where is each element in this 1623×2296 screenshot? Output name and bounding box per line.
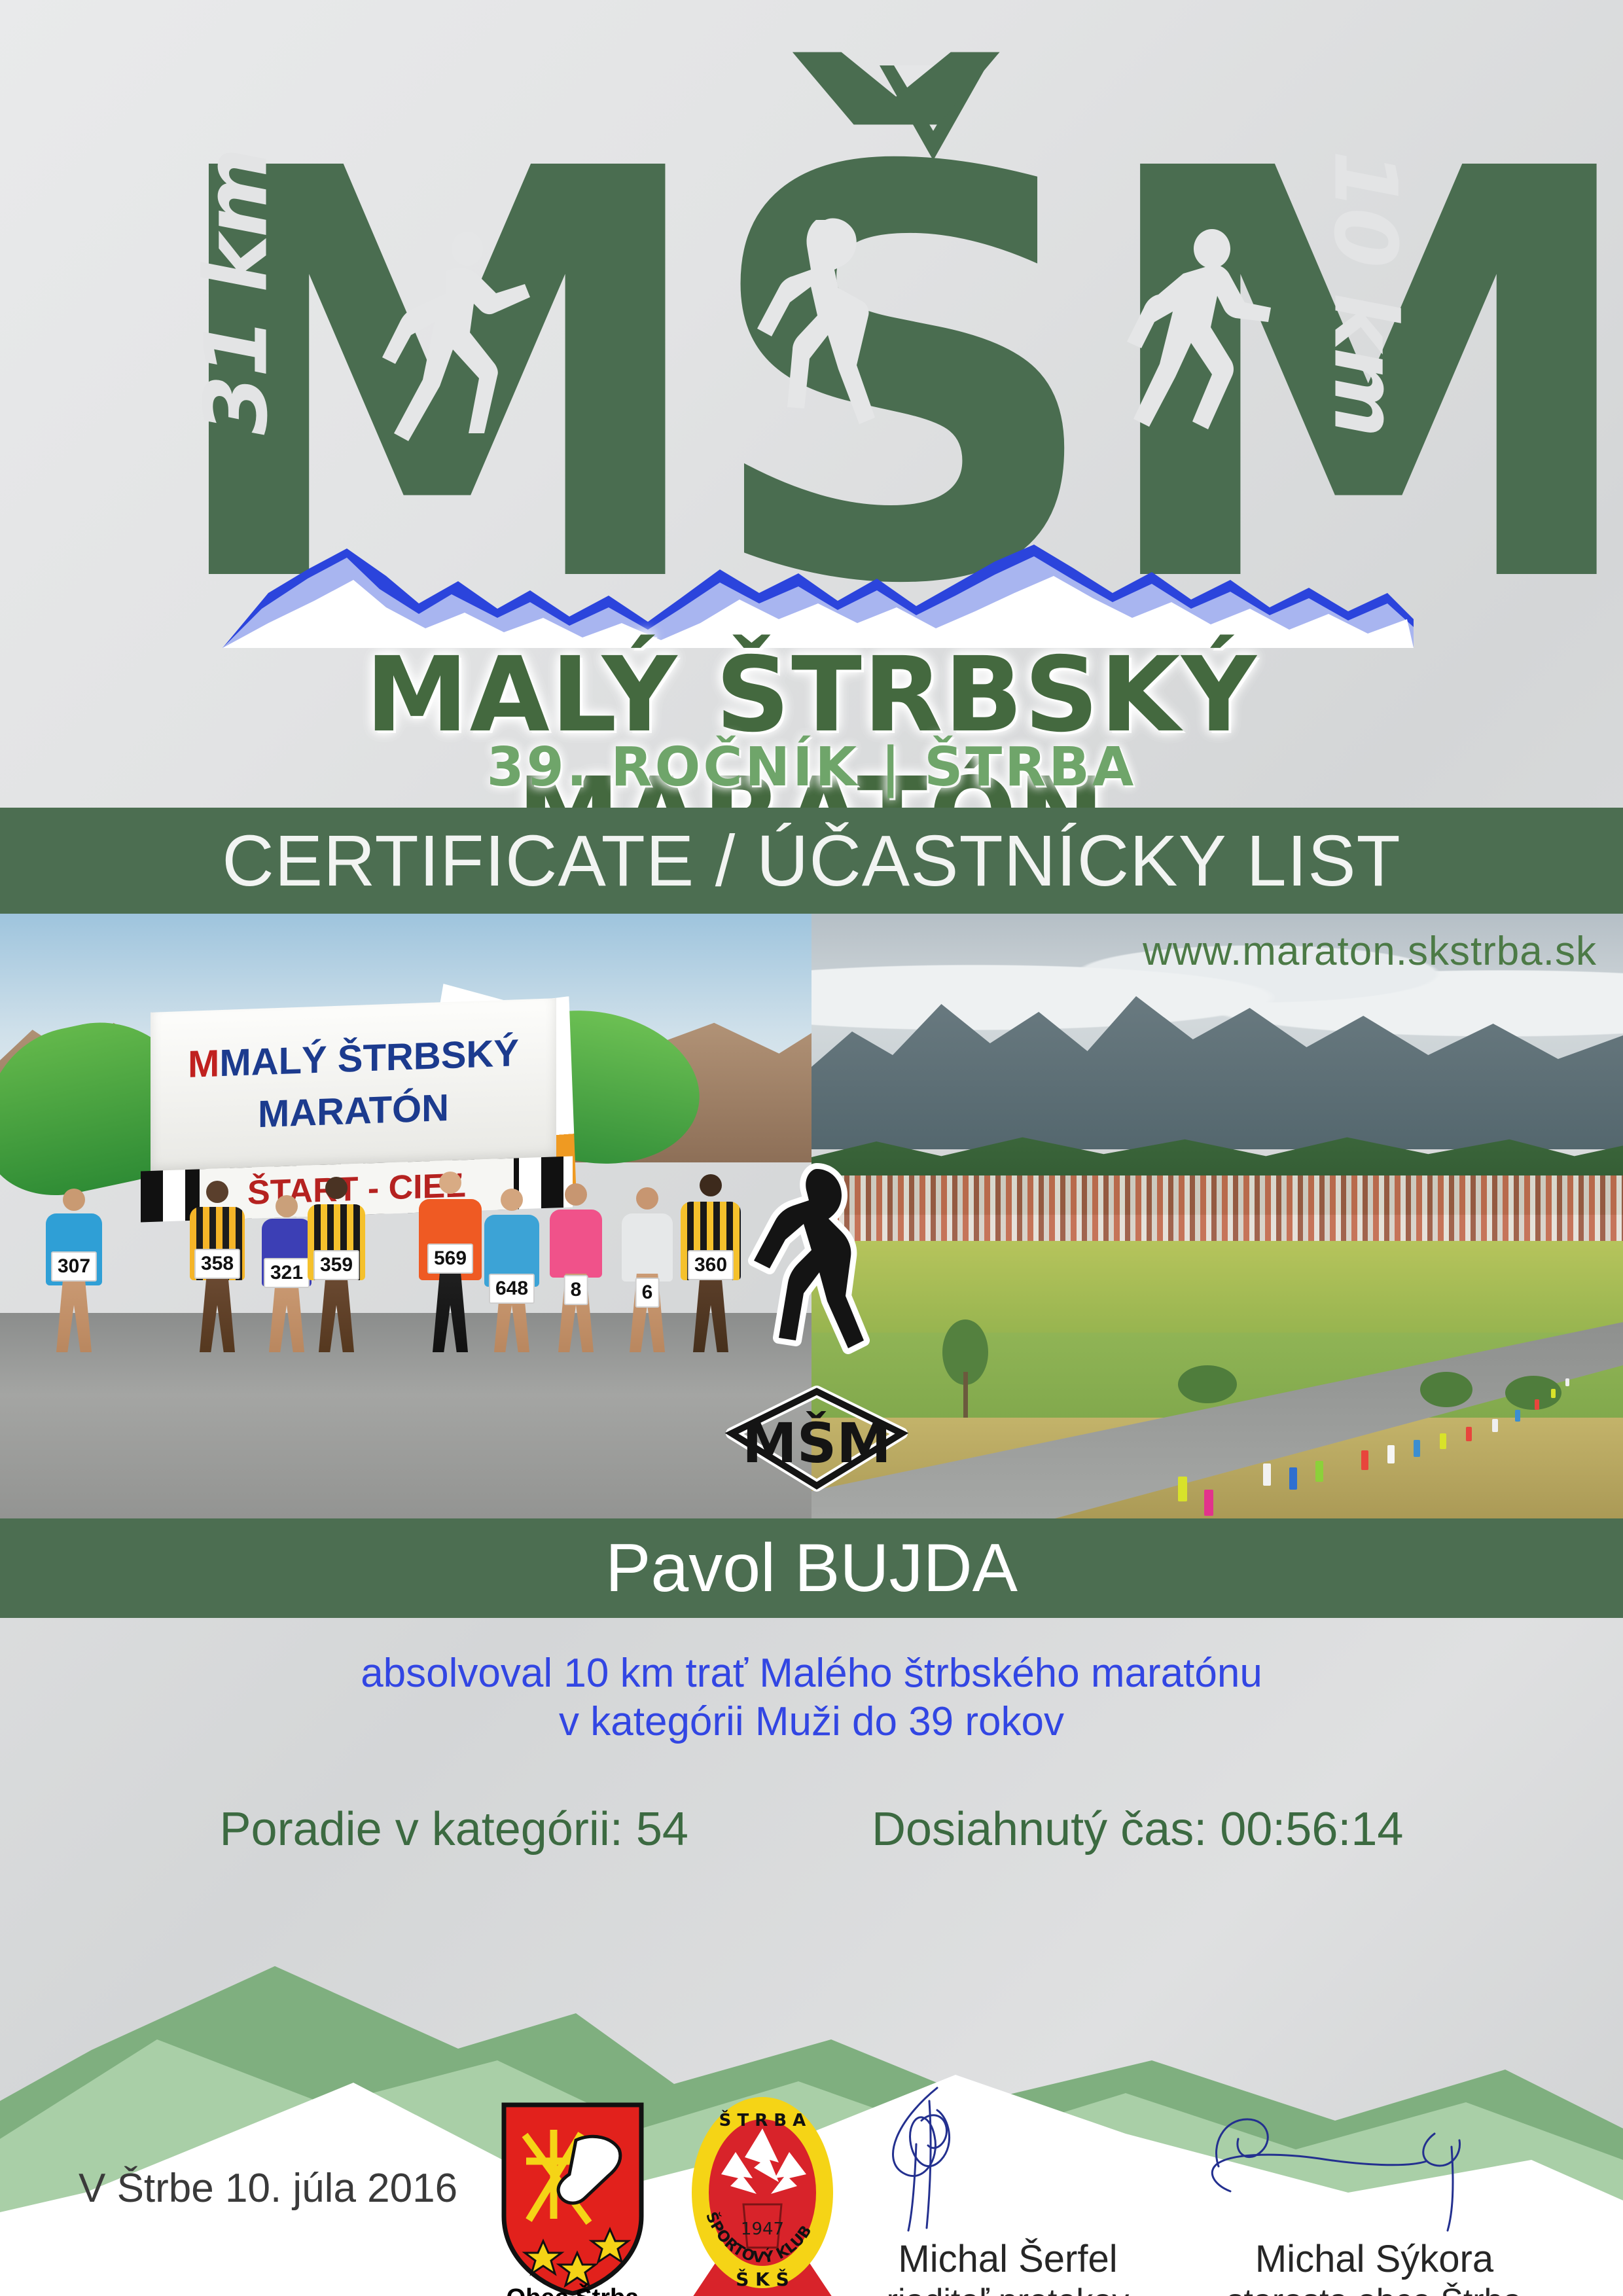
bush [1178,1365,1237,1403]
distant-runner [1263,1463,1271,1486]
distant-runner [1535,1399,1539,1410]
arch-banner-line2-text: MARATÓN [258,1086,449,1136]
msm-runner-emblem-icon: MŠM [692,1158,941,1518]
distant-runner [1492,1419,1498,1432]
mountain-ridge-graphic [223,530,1414,648]
distance-left-label: 31 km [186,151,287,435]
signatory-role: starosta obce Štrba [1191,2282,1558,2296]
distant-runner [1440,1433,1446,1449]
sks-club-logo-icon: 1947 Š T R B A Š K Š ŠPORTOVÝ KLUB [681,2094,844,2296]
runner-figure: 569 [419,1172,482,1352]
svg-text:MŠM: MŠM [742,1411,891,1475]
description-line-2: v kategórii Muži do 39 rokov [0,1698,1623,1746]
bush [1420,1372,1472,1407]
achievement-description: absolvoval 10 km trať Malého štrbského m… [0,1649,1623,1746]
club-top-text: Š T R B A [719,2109,806,2130]
signatory-role: riaditeľ pretekov [825,2282,1191,2296]
website-url: www.maraton.skstrba.sk [1143,928,1597,975]
distant-runner [1515,1410,1520,1422]
runner-figure: 6 [622,1187,673,1352]
signatory-name: Michal Sýkora [1191,2237,1558,2281]
club-bottom-text: Š K Š [736,2268,789,2290]
arch-banner: MMALÝ ŠTRBSKÝ MARATÓN [151,998,556,1176]
bib-number: 307 [51,1251,97,1282]
runner-figure: 307 [46,1189,102,1352]
arch-banner-line2: MARATÓN [151,1082,556,1140]
photo-race-start: MMALÝ ŠTRBSKÝ MARATÓN ŠTART - CIEĽ 307 [0,914,811,1518]
description-line-1: absolvoval 10 km trať Malého štrbského m… [0,1649,1623,1698]
distant-runner [1551,1389,1556,1398]
msm-logo: MŠM 31 km 10 km [157,26,1466,766]
event-subtitle: 39. ROČNÍK | ŠTRBA [157,736,1466,798]
participant-name-band: Pavol BUJDA [0,1518,1623,1618]
certificate-title-band: CERTIFICATE / ÚČASTNÍCKY LIST [0,808,1623,914]
obec-strba-crest-icon [497,2101,648,2296]
arch-banner-line1: MMALÝ ŠTRBSKÝ [151,1030,556,1088]
signature-ink [825,2081,1191,2232]
bib-number: 6 [635,1278,660,1308]
bib-number: 648 [489,1274,535,1304]
arch-banner-line1-text: MALÝ ŠTRBSKÝ [219,1031,519,1085]
runner-figure: 648 [484,1189,539,1352]
bib-number: 359 [313,1250,359,1280]
participant-name: Pavol BUJDA [605,1530,1018,1607]
distant-runner [1204,1490,1213,1516]
finish-time: Dosiahnutý čas: 00:56:14 [872,1803,1404,1856]
runner-silhouette-left-icon [373,216,543,583]
signature-ink [1191,2081,1558,2232]
certificate-page: MŠM 31 km 10 km [0,0,1623,2296]
distant-runner [1387,1445,1395,1463]
bib-number: 358 [194,1249,240,1279]
crest-caption: Obec Štrba [488,2284,658,2296]
issue-date: V Štrbe 10. júla 2016 [79,2165,457,2212]
distant-runner [1315,1461,1323,1482]
header-logo-area: MŠM 31 km 10 km [0,0,1623,805]
category-rank: Poradie v kategórii: 54 [220,1803,688,1856]
bib-number: 8 [564,1275,588,1305]
distant-runner [1178,1477,1187,1501]
bib-number: 321 [264,1258,310,1288]
distant-runner [1361,1450,1368,1470]
club-year: 1947 [741,2219,784,2239]
roadside-tree [942,1319,988,1418]
runner-figure: 8 [550,1183,602,1352]
runner-figure: 359 [308,1177,365,1352]
runner-figure: 321 [262,1195,312,1352]
footer: V Štrbe 10. júla 2016 Obec Štrba [0,2042,1623,2296]
distant-runner [1289,1467,1297,1490]
distant-runner [1565,1378,1569,1386]
runner-silhouette-right-icon [1126,216,1289,583]
bib-number: 569 [427,1244,473,1274]
distant-runner [1466,1427,1472,1441]
distant-runner [1414,1440,1420,1457]
runner-crowd: 307 358 321 359 [0,1156,811,1352]
certificate-title: CERTIFICATE / ÚČASTNÍCKY LIST [0,808,1623,914]
results-row: Poradie v kategórii: 54 Dosiahnutý čas: … [0,1793,1623,1865]
distance-right-label: 10 km [1314,151,1415,435]
signatory-name: Michal Šerfel [825,2237,1191,2281]
runner-figure: 358 [190,1181,245,1352]
